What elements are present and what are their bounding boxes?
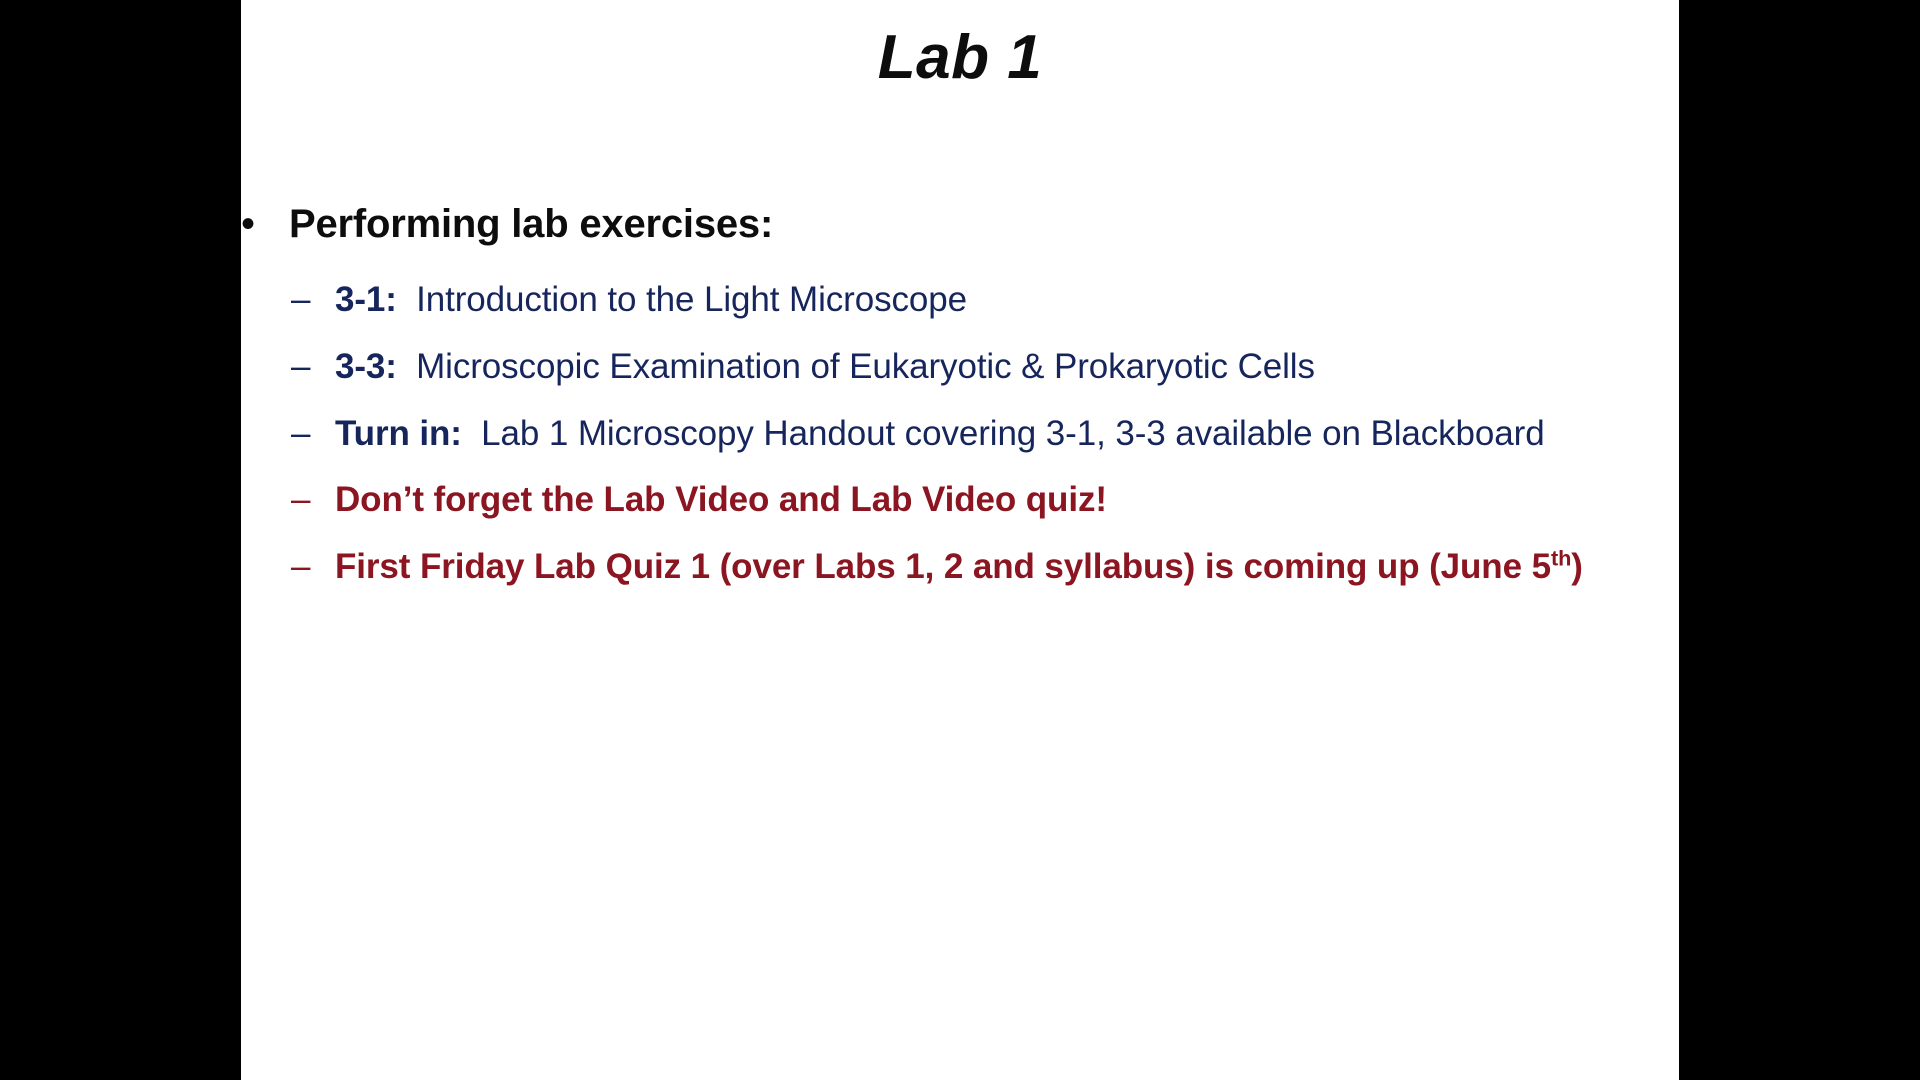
bullet-text: 3-3: Microscopic Examination of Eukaryot… (335, 345, 1679, 390)
slide-viewport: Lab 1 • Performing lab exercises: – 3-1:… (0, 0, 1920, 1080)
bullet-body: Microscopic Examination of Eukaryotic & … (416, 347, 1315, 386)
slide-body: • Performing lab exercises: – 3-1: Intro… (241, 200, 1679, 612)
bullet-performing-lab-exercises: • Performing lab exercises: (241, 200, 1679, 248)
letterbox-right (1679, 0, 1920, 1080)
bullet-text: 3-1: Introduction to the Light Microscop… (335, 278, 1679, 323)
bullet-text: Performing lab exercises: (289, 200, 773, 248)
bullet-label: 3-1: (335, 280, 397, 319)
bullet-label: Turn in: (335, 414, 462, 453)
slide-canvas: Lab 1 • Performing lab exercises: – 3-1:… (241, 0, 1679, 1080)
bullet-body-tail: ) (1571, 547, 1583, 586)
bullet-label: 3-3: (335, 347, 397, 386)
bullet-text: Don’t forget the Lab Video and Lab Video… (335, 478, 1679, 523)
ordinal-superscript: th (1551, 546, 1571, 571)
dash-marker-icon: – (291, 545, 335, 590)
dash-marker-icon: – (291, 345, 335, 390)
bullet-text: First Friday Lab Quiz 1 (over Labs 1, 2 … (335, 545, 1679, 590)
bullet-body: Lab 1 Microscopy Handout covering 3-1, 3… (481, 414, 1544, 453)
bullet-turn-in: – Turn in: Lab 1 Microscopy Handout cove… (241, 412, 1679, 457)
bullet-first-friday-lab-quiz: – First Friday Lab Quiz 1 (over Labs 1, … (241, 545, 1679, 590)
bullet-exercise-3-3: – 3-3: Microscopic Examination of Eukary… (241, 345, 1679, 390)
bullet-dot-icon: • (241, 200, 289, 248)
bullet-text: Turn in: Lab 1 Microscopy Handout coveri… (335, 412, 1679, 457)
dash-marker-icon: – (291, 412, 335, 457)
bullet-exercise-3-1: – 3-1: Introduction to the Light Microsc… (241, 278, 1679, 323)
dash-marker-icon: – (291, 278, 335, 323)
bullet-body: First Friday Lab Quiz 1 (over Labs 1, 2 … (335, 547, 1551, 586)
bullet-body: Introduction to the Light Microscope (416, 280, 967, 319)
dash-marker-icon: – (291, 478, 335, 523)
bullet-lab-video-reminder: – Don’t forget the Lab Video and Lab Vid… (241, 478, 1679, 523)
letterbox-left (0, 0, 241, 1080)
slide-title: Lab 1 (241, 24, 1679, 92)
